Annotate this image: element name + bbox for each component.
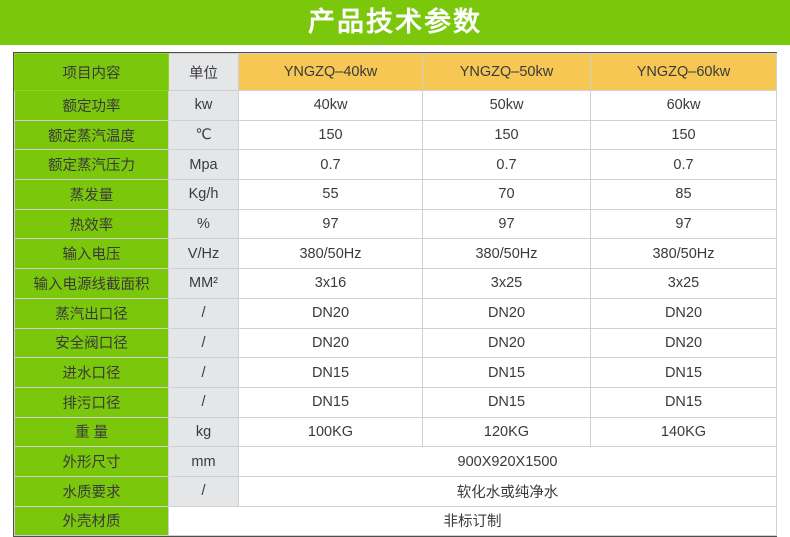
table-row: 外形尺寸 mm 900X920X1500 <box>15 447 777 477</box>
table-row: 水质要求 / 软化水或纯净水 <box>15 476 777 506</box>
row-value: DN20 <box>591 298 777 328</box>
row-label: 排污口径 <box>15 387 169 417</box>
row-value: 0.7 <box>423 150 591 180</box>
row-value: 3x16 <box>239 269 423 299</box>
row-unit: MM² <box>169 269 239 299</box>
table-row: 蒸汽出口径 / DN20 DN20 DN20 <box>15 298 777 328</box>
row-value: DN20 <box>591 328 777 358</box>
row-unit: V/Hz <box>169 239 239 269</box>
row-label: 额定功率 <box>15 91 169 121</box>
row-value: 100KG <box>239 417 423 447</box>
row-value: DN20 <box>239 328 423 358</box>
spec-table: 项目内容 单位 YNGZQ–40kw YNGZQ–50kw YNGZQ–60kw… <box>14 53 777 536</box>
spec-table-container: 项目内容 单位 YNGZQ–40kw YNGZQ–50kw YNGZQ–60kw… <box>13 52 777 537</box>
row-label: 热效率 <box>15 209 169 239</box>
row-unit: Kg/h <box>169 180 239 210</box>
row-value: 3x25 <box>423 269 591 299</box>
row-value-merged: 软化水或纯净水 <box>239 476 777 506</box>
row-unit: kg <box>169 417 239 447</box>
row-value: DN15 <box>239 358 423 388</box>
row-value: 85 <box>591 180 777 210</box>
row-value: 97 <box>239 209 423 239</box>
row-label: 额定蒸汽温度 <box>15 120 169 150</box>
row-value: DN15 <box>591 358 777 388</box>
row-label: 进水口径 <box>15 358 169 388</box>
row-value: DN15 <box>591 387 777 417</box>
row-unit: kw <box>169 91 239 121</box>
table-row: 输入电源线截面积 MM² 3x16 3x25 3x25 <box>15 269 777 299</box>
table-row: 额定蒸汽压力 Mpa 0.7 0.7 0.7 <box>15 150 777 180</box>
row-value: 3x25 <box>591 269 777 299</box>
row-value: 97 <box>591 209 777 239</box>
table-row: 蒸发量 Kg/h 55 70 85 <box>15 180 777 210</box>
row-label: 输入电压 <box>15 239 169 269</box>
row-value: 50kw <box>423 91 591 121</box>
row-value: 140KG <box>591 417 777 447</box>
header-model-2: YNGZQ–50kw <box>423 54 591 91</box>
row-label: 输入电源线截面积 <box>15 269 169 299</box>
table-row: 额定蒸汽温度 ℃ 150 150 150 <box>15 120 777 150</box>
row-value: DN15 <box>423 387 591 417</box>
row-value: 380/50Hz <box>591 239 777 269</box>
table-row: 进水口径 / DN15 DN15 DN15 <box>15 358 777 388</box>
row-value: 70 <box>423 180 591 210</box>
page-title-banner: 产品技术参数 <box>0 0 790 45</box>
row-unit: / <box>169 476 239 506</box>
header-model-3: YNGZQ–60kw <box>591 54 777 91</box>
header-item: 项目内容 <box>15 54 169 91</box>
table-row: 重 量 kg 100KG 120KG 140KG <box>15 417 777 447</box>
table-row: 输入电压 V/Hz 380/50Hz 380/50Hz 380/50Hz <box>15 239 777 269</box>
row-value: 0.7 <box>591 150 777 180</box>
row-unit: / <box>169 298 239 328</box>
header-model-1: YNGZQ–40kw <box>239 54 423 91</box>
row-value: 380/50Hz <box>423 239 591 269</box>
row-unit: % <box>169 209 239 239</box>
row-unit: / <box>169 358 239 388</box>
row-unit: Mpa <box>169 150 239 180</box>
row-value: 55 <box>239 180 423 210</box>
row-label: 外形尺寸 <box>15 447 169 477</box>
row-label: 水质要求 <box>15 476 169 506</box>
row-value: DN15 <box>423 358 591 388</box>
row-value: 40kw <box>239 91 423 121</box>
row-value-merged: 900X920X1500 <box>239 447 777 477</box>
row-value: DN20 <box>239 298 423 328</box>
row-value: 120KG <box>423 417 591 447</box>
row-unit: / <box>169 387 239 417</box>
row-value: 150 <box>423 120 591 150</box>
row-value: 150 <box>239 120 423 150</box>
row-label: 重 量 <box>15 417 169 447</box>
row-unit: ℃ <box>169 120 239 150</box>
table-row: 安全阀口径 / DN20 DN20 DN20 <box>15 328 777 358</box>
row-value: 150 <box>591 120 777 150</box>
product-spec-page: 产品技术参数 项目内容 单位 YNGZQ–40kw YNGZQ–50kw YNG… <box>0 0 790 521</box>
row-value: 60kw <box>591 91 777 121</box>
row-unit: / <box>169 328 239 358</box>
row-value: DN20 <box>423 328 591 358</box>
row-value: 380/50Hz <box>239 239 423 269</box>
row-label: 安全阀口径 <box>15 328 169 358</box>
row-label: 蒸汽出口径 <box>15 298 169 328</box>
page-title: 产品技术参数 <box>308 9 482 36</box>
row-value: 97 <box>423 209 591 239</box>
row-value: DN15 <box>239 387 423 417</box>
header-unit: 单位 <box>169 54 239 91</box>
table-row: 额定功率 kw 40kw 50kw 60kw <box>15 91 777 121</box>
row-label: 蒸发量 <box>15 180 169 210</box>
row-value: 0.7 <box>239 150 423 180</box>
row-unit: mm <box>169 447 239 477</box>
row-label: 额定蒸汽压力 <box>15 150 169 180</box>
row-value: DN20 <box>423 298 591 328</box>
table-row: 排污口径 / DN15 DN15 DN15 <box>15 387 777 417</box>
table-row: 热效率 % 97 97 97 <box>15 209 777 239</box>
table-header-row: 项目内容 单位 YNGZQ–40kw YNGZQ–50kw YNGZQ–60kw <box>15 54 777 91</box>
